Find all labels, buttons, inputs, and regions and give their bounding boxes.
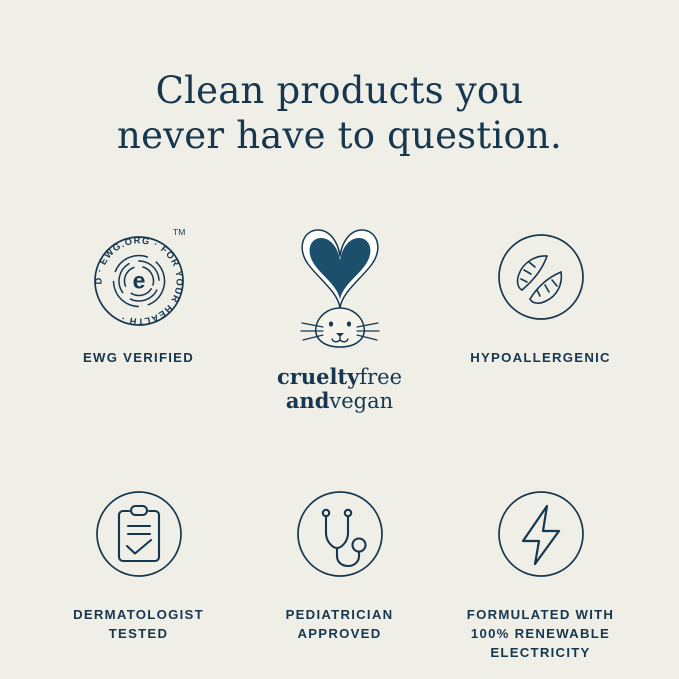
cruelty-free-bunny-heart-icon bbox=[278, 218, 402, 373]
logo-text-line-2: andvegan bbox=[277, 389, 402, 413]
badge-pediatrician-approved: PEDIATRICIAN APPROVED bbox=[239, 475, 440, 662]
badge-renewable-electricity: FORMULATED WITH 100% RENEWABLE ELECTRICI… bbox=[440, 475, 641, 662]
feathers-hypoallergenic-icon bbox=[491, 218, 591, 336]
page-title-line-2: never have to question. bbox=[0, 113, 679, 158]
badge-label-line: FORMULATED WITH bbox=[467, 605, 614, 624]
badge-label-line: 100% RENEWABLE bbox=[467, 624, 614, 643]
cruelty-free-logo-text: crueltyfree andvegan bbox=[277, 365, 402, 413]
page-title: Clean products you never have to questio… bbox=[0, 68, 679, 158]
badge-label-line: ELECTRICITY bbox=[467, 643, 614, 662]
badge-label-line: DERMATOLOGIST bbox=[73, 605, 204, 624]
logo-text-vegan: vegan bbox=[329, 389, 393, 413]
badge-label: PEDIATRICIAN APPROVED bbox=[286, 605, 394, 643]
trademark-symbol: TM bbox=[173, 227, 185, 237]
badge-label-line: APPROVED bbox=[286, 624, 394, 643]
logo-text-cruelty: cruelty bbox=[277, 364, 359, 389]
badge-dermatologist-tested: DERMATOLOGIST TESTED bbox=[38, 475, 239, 662]
badge-grid: EWG VERIFIED · EWG.ORG · FOR YOUR HEALTH… bbox=[38, 218, 641, 662]
ewg-verified-seal-icon: EWG VERIFIED · EWG.ORG · FOR YOUR HEALTH… bbox=[85, 218, 193, 336]
certification-badges-page: Clean products you never have to questio… bbox=[0, 0, 679, 679]
badge-label: FORMULATED WITH 100% RENEWABLE ELECTRICI… bbox=[467, 605, 614, 662]
badge-label: EWG VERIFIED bbox=[83, 348, 194, 367]
badge-cruelty-free-and-vegan: crueltyfree andvegan bbox=[239, 218, 440, 413]
svg-text:e: e bbox=[132, 268, 145, 294]
logo-text-free: free bbox=[359, 365, 402, 389]
logo-text-line-1: crueltyfree bbox=[277, 365, 402, 389]
badge-label-line: EWG VERIFIED bbox=[83, 348, 194, 367]
badge-label-line: PEDIATRICIAN bbox=[286, 605, 394, 624]
page-title-line-1: Clean products you bbox=[0, 68, 679, 113]
badge-label-line: HYPOALLERGENIC bbox=[470, 348, 611, 367]
logo-text-and: and bbox=[286, 388, 330, 413]
stethoscope-icon bbox=[290, 475, 390, 593]
clipboard-check-icon bbox=[89, 475, 189, 593]
row-spacer bbox=[38, 413, 641, 475]
lightning-bolt-icon bbox=[491, 475, 591, 593]
badge-label: DERMATOLOGIST TESTED bbox=[73, 605, 204, 643]
badge-ewg-verified: EWG VERIFIED · EWG.ORG · FOR YOUR HEALTH… bbox=[38, 218, 239, 413]
badge-label-line: TESTED bbox=[73, 624, 204, 643]
badge-label: HYPOALLERGENIC bbox=[470, 348, 611, 367]
badge-hypoallergenic: HYPOALLERGENIC bbox=[440, 218, 641, 413]
